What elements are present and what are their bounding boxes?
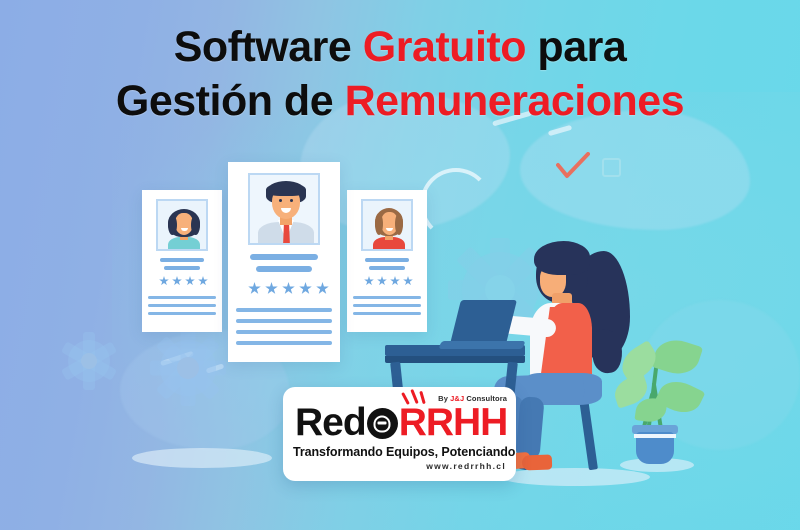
floor-shadow <box>132 448 272 468</box>
headline-line-1: Software Gratuito para <box>174 23 627 71</box>
empty-checkbox-icon <box>602 158 621 177</box>
body-line <box>236 330 332 334</box>
status-badge <box>248 282 329 295</box>
heading-bar <box>250 254 318 260</box>
headline-text: Software <box>174 23 363 71</box>
star-icon <box>172 276 182 286</box>
avatar <box>156 199 208 251</box>
body-line <box>236 319 332 323</box>
logo-url: www.redrrhh.cl <box>426 461 506 471</box>
status-badge <box>159 276 208 286</box>
list-item[interactable] <box>142 190 222 332</box>
list-item[interactable] <box>228 162 340 362</box>
star-icon <box>248 282 261 295</box>
body-line <box>236 341 332 345</box>
logo-word-rrhh: RRHH <box>399 401 508 444</box>
gear-tiny-icon <box>60 332 118 390</box>
list-item[interactable] <box>347 190 427 332</box>
ring-outline-icon <box>420 168 492 240</box>
shoe <box>522 454 553 470</box>
promo-banner: Software Gratuito para Gestión de Remune… <box>0 0 800 530</box>
heading-bar <box>164 266 200 270</box>
redrrhh-o-monogram-icon <box>367 408 398 439</box>
hair-fringe <box>534 241 590 275</box>
desk-surface-edge <box>385 356 525 363</box>
body-line <box>353 296 421 299</box>
body-line <box>148 296 216 299</box>
star-icon <box>282 282 295 295</box>
headline-line-2: Gestión de Remuneraciones <box>0 74 800 128</box>
star-icon <box>316 282 329 295</box>
plant-pot-band <box>634 434 676 438</box>
heading-bar <box>365 258 409 262</box>
brand-logo-card[interactable]: By J&J Consultora Red RRHH Transformando… <box>283 387 516 481</box>
logo-tagline: Transformando Equipos, Potenciando Empre… <box>293 445 516 459</box>
checkmark-icon <box>556 152 590 182</box>
jeans-shin <box>515 396 544 460</box>
body-line <box>148 312 216 315</box>
avatar <box>248 173 320 245</box>
body-line <box>353 304 421 307</box>
body-line <box>353 312 421 315</box>
body-line <box>236 308 332 312</box>
page-title: Software Gratuito para Gestión de Remune… <box>0 20 800 128</box>
star-icon <box>403 276 413 286</box>
headline-highlight: Gratuito <box>363 23 526 71</box>
headline-highlight: Remuneraciones <box>345 77 685 125</box>
laptop-keyboard <box>438 341 525 349</box>
star-icon <box>185 276 195 286</box>
star-icon <box>159 276 169 286</box>
headline-text: para <box>526 23 626 71</box>
star-icon <box>299 282 312 295</box>
avatar <box>361 199 413 251</box>
body-line <box>148 304 216 307</box>
star-icon <box>364 276 374 286</box>
headline-text: Gestión de <box>116 77 345 125</box>
heading-bar <box>369 266 405 270</box>
star-icon <box>198 276 208 286</box>
logo-wordmark: Red RRHH <box>295 401 507 445</box>
heading-bar <box>256 266 312 272</box>
star-icon <box>390 276 400 286</box>
star-icon <box>265 282 278 295</box>
star-icon <box>377 276 387 286</box>
heading-bar <box>160 258 204 262</box>
logo-word-red: Red <box>295 401 366 444</box>
status-badge <box>364 276 413 286</box>
gear-small-icon <box>150 330 226 406</box>
